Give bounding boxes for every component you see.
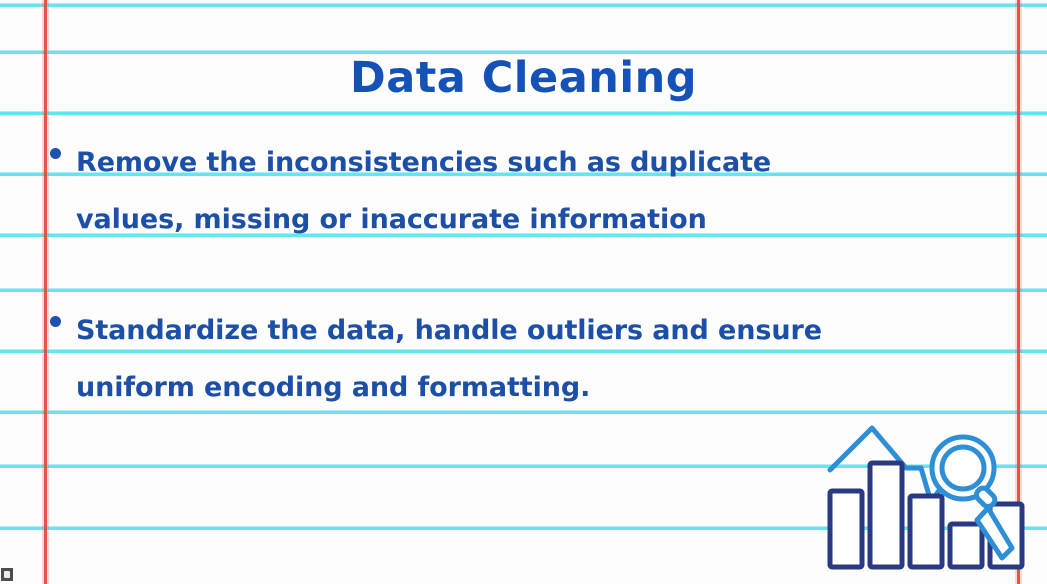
bullet-text: Remove the inconsistencies such as dupli… [76,134,984,248]
bar [830,491,862,567]
bullet-line: values, missing or inaccurate informatio… [76,191,984,248]
bullet-dot-icon [50,148,61,159]
corner-artifact [1,568,13,581]
page-title: Data Cleaning [0,55,1047,102]
list-item: Standardize the data, handle outliers an… [44,302,984,416]
bar [870,463,902,567]
slide-canvas: Data Cleaning Remove the inconsistencies… [0,0,1047,584]
magnifier-collar [974,486,997,509]
bullet-dot-icon [50,316,61,327]
bullet-text: Standardize the data, handle outliers an… [76,302,984,416]
rule-line [0,112,1047,115]
list-item: Remove the inconsistencies such as dupli… [44,134,984,248]
bar-chart-with-magnifier-icon [818,412,1030,584]
bullet-line: Standardize the data, handle outliers an… [76,302,984,359]
rule-line [0,4,1047,7]
bullet-line: uniform encoding and formatting. [76,359,984,416]
bar [950,524,982,567]
bullet-line: Remove the inconsistencies such as dupli… [76,134,984,191]
bar [910,496,942,567]
